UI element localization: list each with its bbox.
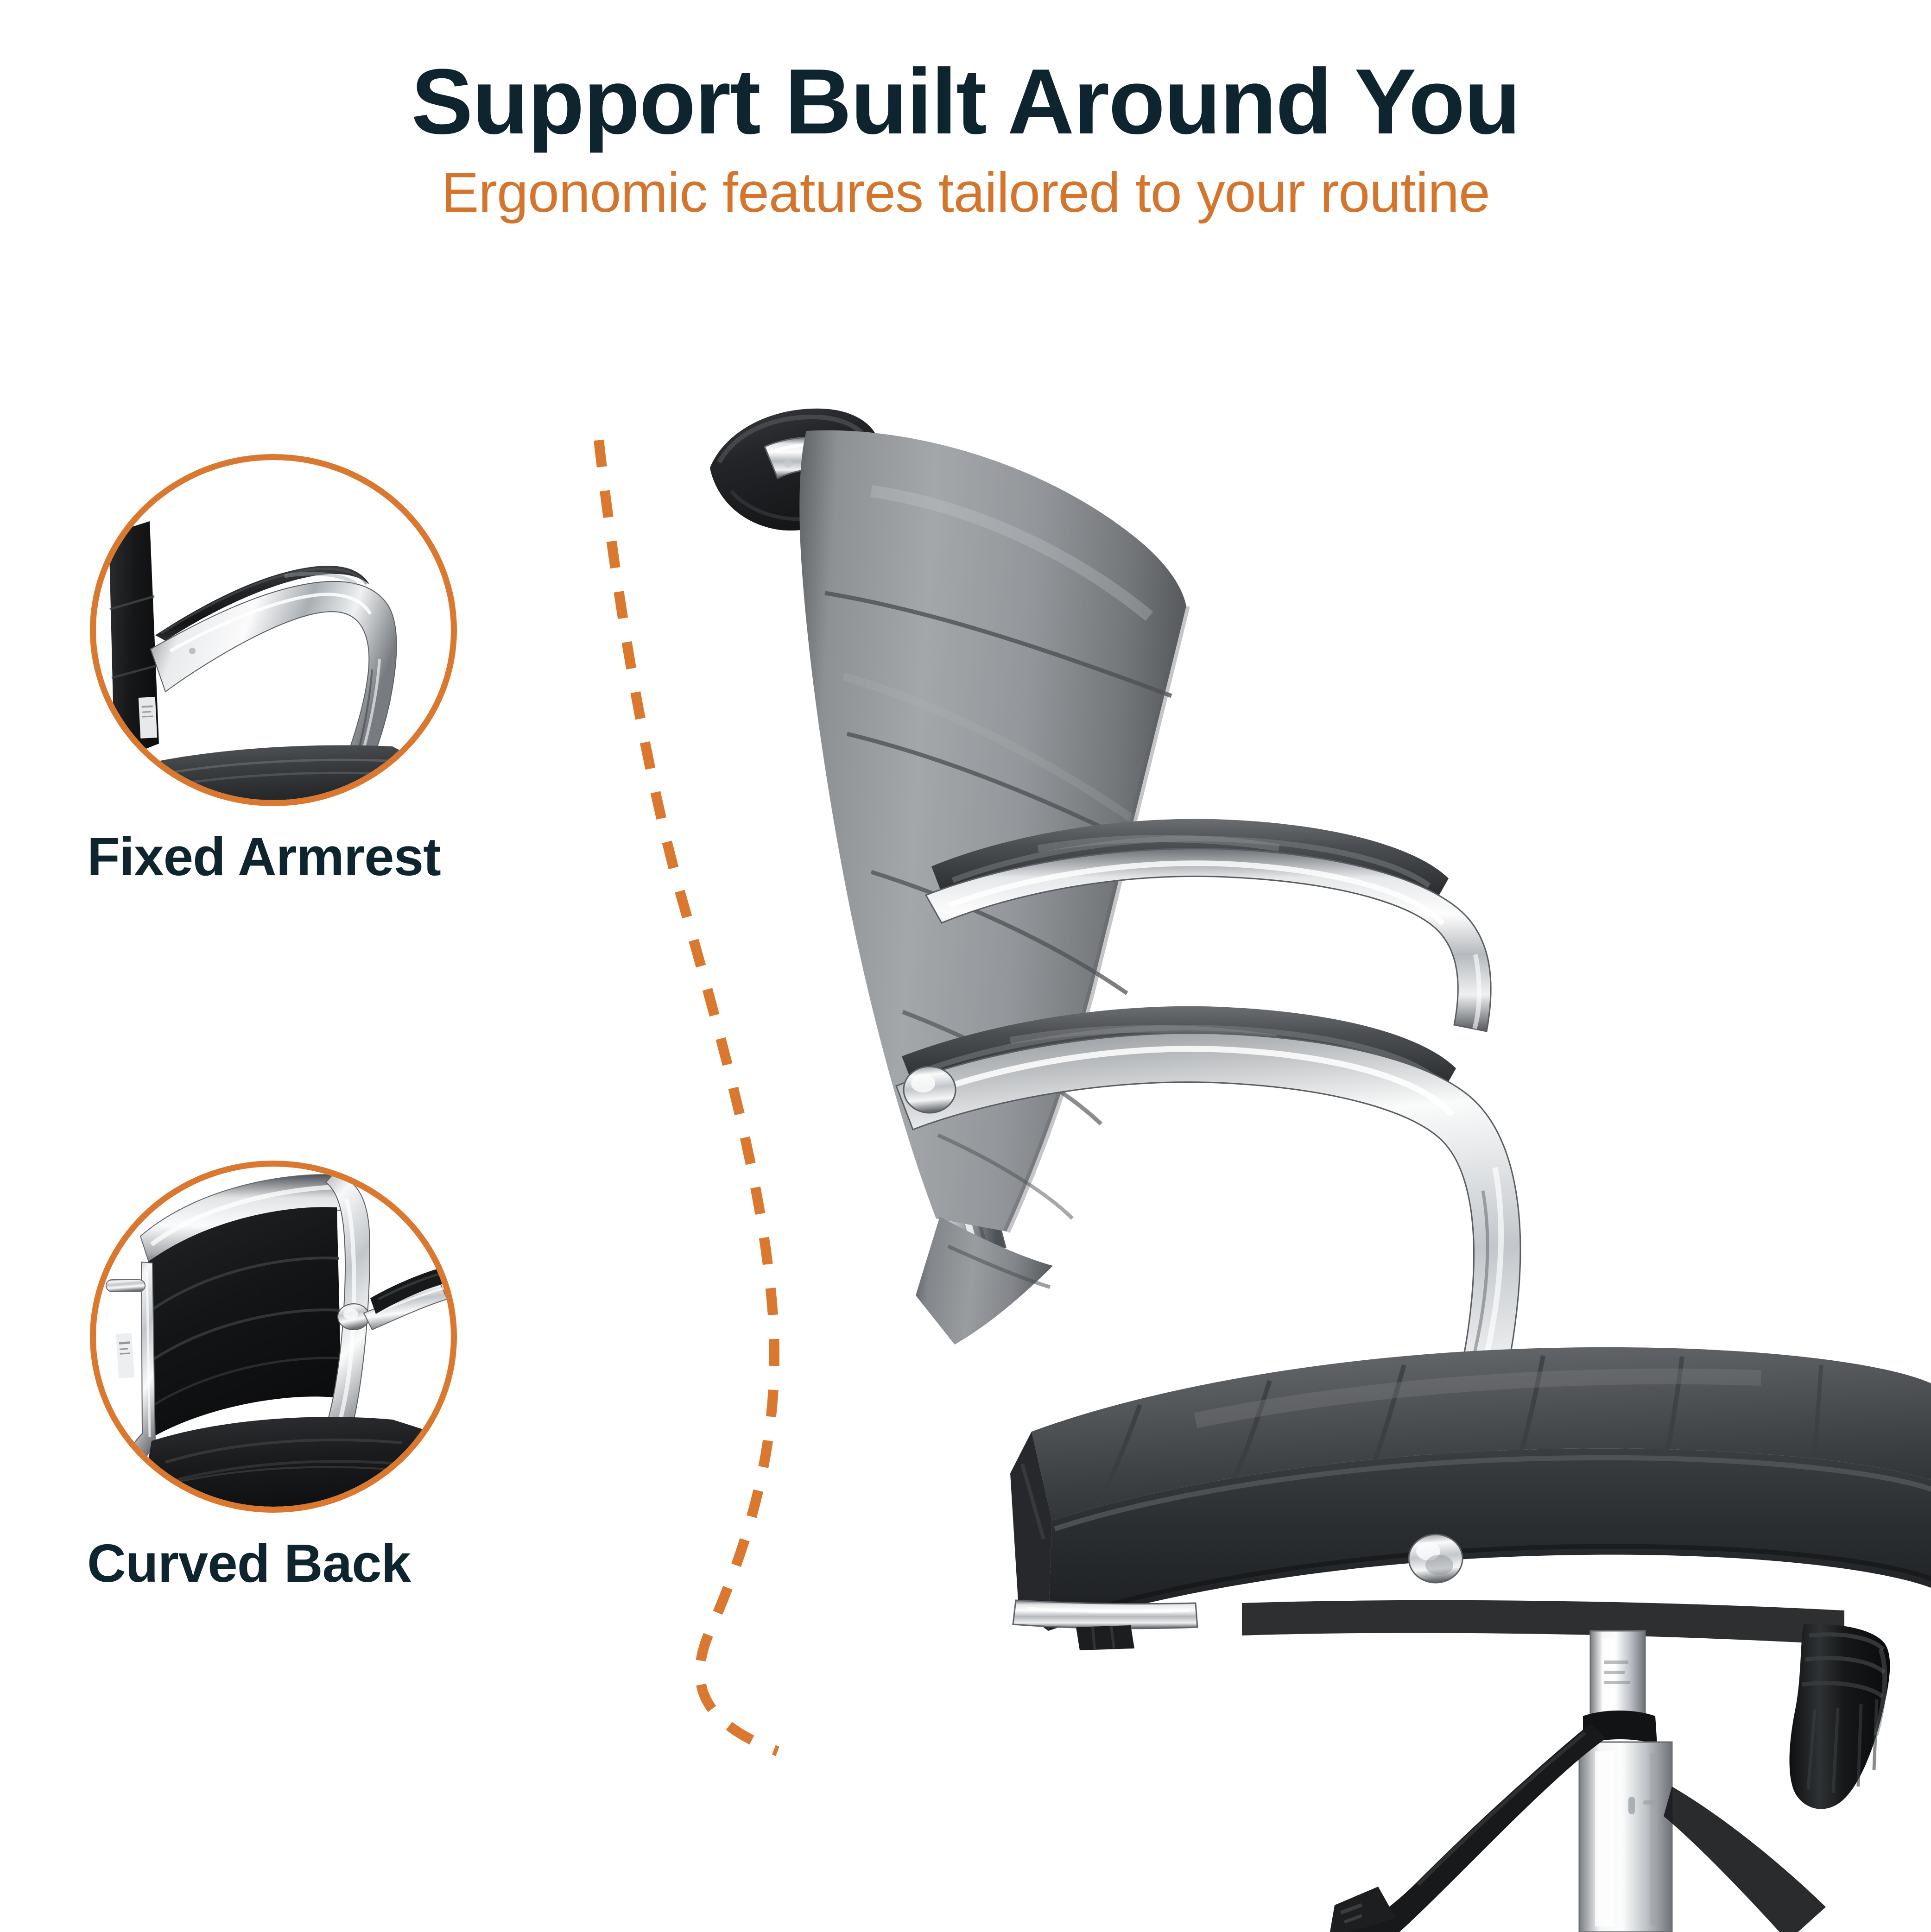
arm-loop-rivet — [1409, 1534, 1462, 1583]
office-chair-side-view — [547, 352, 1931, 1932]
feature-label-curved-back: Curved Back — [87, 1532, 538, 1594]
callout-circle-armrest — [90, 454, 457, 806]
feature-label-fixed-armrest: Fixed Armrest — [87, 826, 538, 888]
page-title: Support Built Around You — [0, 56, 1931, 148]
page-subtitle: Ergonomic features tailored to your rout… — [0, 164, 1931, 221]
feature-callout-curved-back: Curved Back — [0, 1161, 538, 1594]
curved-back-detail-photo — [96, 1167, 451, 1507]
armrest-detail-photo — [96, 460, 451, 800]
header-block: Support Built Around You Ergonomic featu… — [0, 56, 1931, 221]
callout-circle-curved-back — [90, 1161, 457, 1513]
feature-callout-fixed-armrest: Fixed Armrest — [0, 454, 538, 888]
arm-pivot-knuckle — [904, 1067, 956, 1113]
infographic-canvas: Support Built Around You Ergonomic featu… — [0, 0, 1931, 1931]
